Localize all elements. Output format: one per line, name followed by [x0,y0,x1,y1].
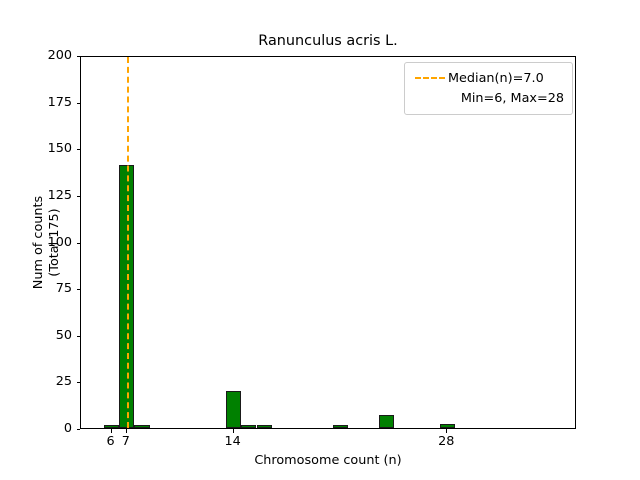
x-tick-mark [111,429,112,433]
legend-label-range: Min=6, Max=28 [461,91,564,106]
x-tick-mark [233,429,234,433]
figure-canvas: Ranunculus acris L. 02550751001251501752… [0,0,640,480]
y-axis-label: Num of counts(Total 175) [31,56,65,429]
y-tick-mark [77,56,81,57]
y-axis-label-line2: (Total 175) [47,208,62,276]
y-tick-mark [77,196,81,197]
median-line [127,57,129,428]
x-tick-mark [126,429,127,433]
y-tick-mark [77,336,81,337]
x-tick-label: 28 [416,435,476,449]
y-tick-mark [77,289,81,290]
legend-label-median: Median(n)=7.0 [448,71,544,86]
legend-entry-median: Median(n)=7.0 [412,68,565,88]
legend-box: Median(n)=7.0 Min=6, Max=28 [404,62,573,115]
dashed-line-icon [412,77,448,79]
x-tick-mark [446,429,447,433]
x-tick-label: 7 [96,435,156,449]
y-tick-mark [77,243,81,244]
y-tick-label: 0 [64,422,72,435]
y-axis-label-line1: Num of counts [31,196,46,289]
y-tick-mark [77,103,81,104]
x-axis-label: Chromosome count (n) [80,453,576,468]
y-tick-mark [77,382,81,383]
chart-title: Ranunculus acris L. [80,33,576,50]
legend-entry-range: Min=6, Max=28 [412,88,565,108]
x-tick-label: 14 [203,435,263,449]
y-tick-mark [77,149,81,150]
y-tick-mark [77,429,81,430]
